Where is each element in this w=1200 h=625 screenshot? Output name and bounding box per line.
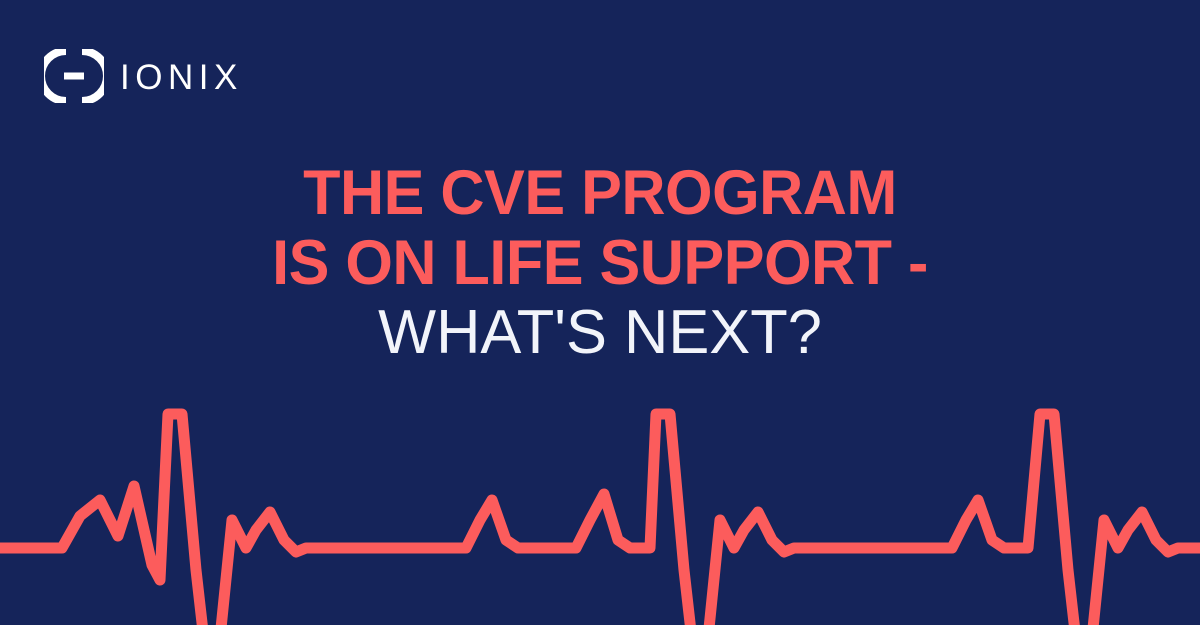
headline-line-2: IS ON LIFE SUPPORT -	[57, 232, 1143, 295]
headline-line-1: THE CVE PROGRAM	[57, 162, 1143, 225]
page-title: THE CVE PROGRAM IS ON LIFE SUPPORT - WHA…	[0, 162, 1200, 364]
ionix-x-mark-icon	[44, 49, 104, 103]
ecg-waveform-path	[0, 414, 1200, 625]
promo-banner: IONIX THE CVE PROGRAM IS ON LIFE SUPPORT…	[0, 0, 1200, 625]
heartbeat-ecg-line-icon	[0, 400, 1200, 625]
brand-lockup: IONIX	[44, 48, 243, 104]
brand-wordmark: IONIX	[120, 60, 243, 95]
headline-line-3: WHAT'S NEXT?	[46, 302, 1155, 364]
